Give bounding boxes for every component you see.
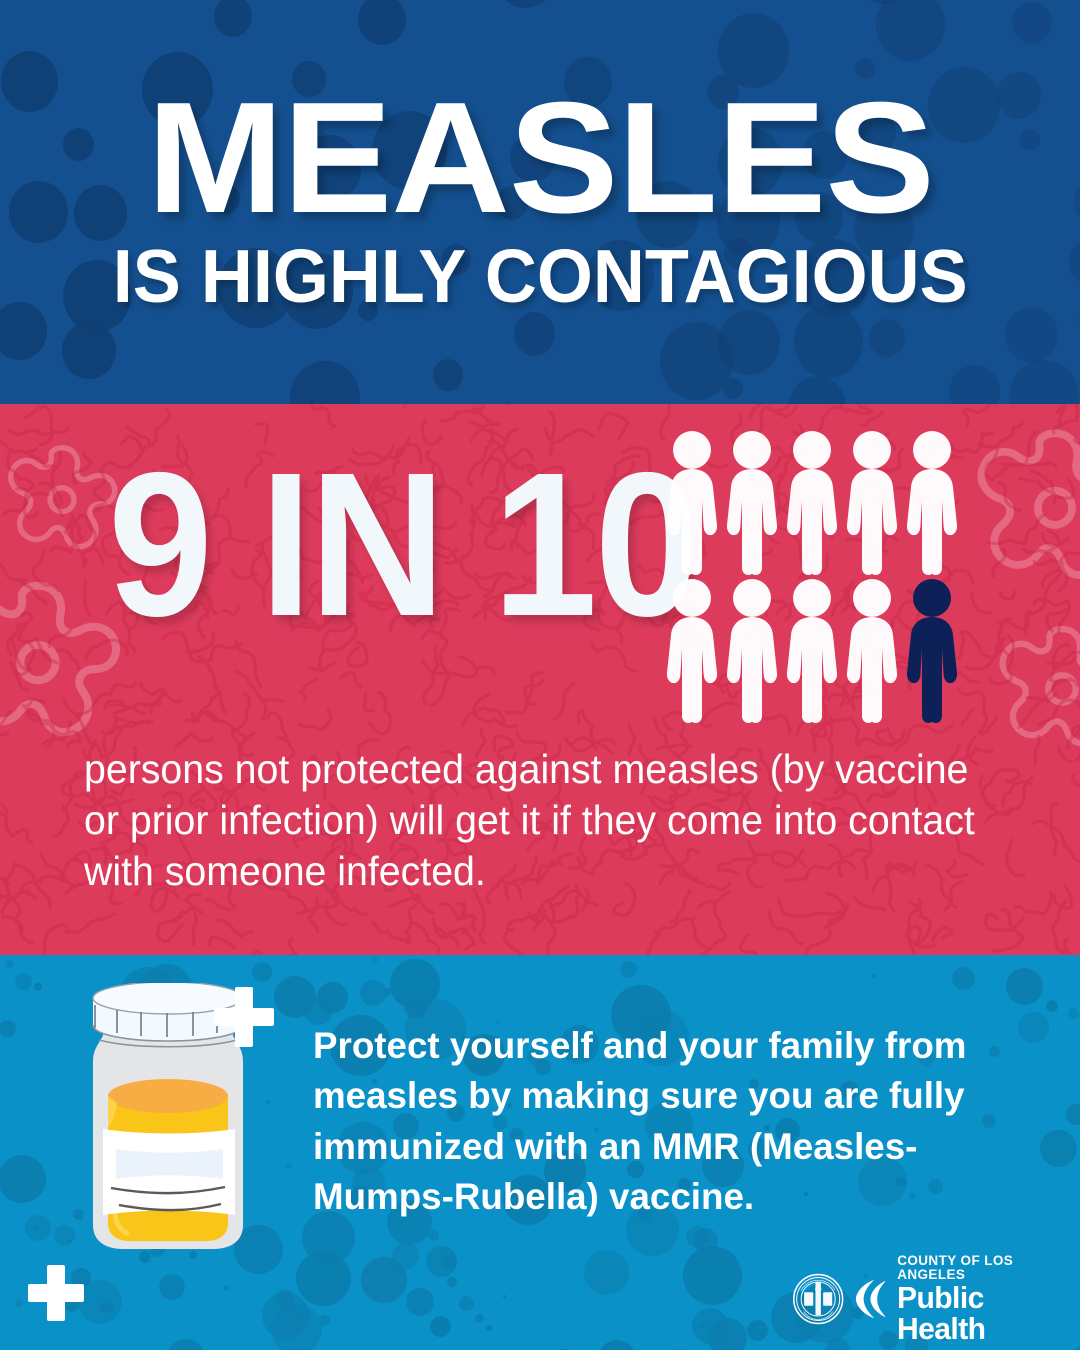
lacounty-public-health-logo: COUNTY OF LOS ANGELES Public Health <box>792 1254 1080 1344</box>
person-icon <box>782 429 842 577</box>
person-icon <box>902 429 962 577</box>
person-icon <box>662 429 722 577</box>
title-block: MEASLES IS HIGHLY CONTAGIOUS <box>0 0 1080 404</box>
big-statistic: 9 IN 10 <box>108 442 697 647</box>
page-subtitle: IS HIGHLY CONTAGIOUS <box>113 239 968 314</box>
person-icon <box>902 577 962 725</box>
logo-county-line: COUNTY OF LOS ANGELES <box>897 1254 1080 1281</box>
action-description: Protect yourself and your family from me… <box>313 1020 989 1221</box>
header-section: MEASLES IS HIGHLY CONTAGIOUS <box>0 0 1080 404</box>
logo-public-health-line: Public Health <box>897 1282 1074 1344</box>
statistic-description: persons not protected against measles (b… <box>84 744 976 897</box>
pictogram-row <box>662 577 962 725</box>
logo-wordmark: COUNTY OF LOS ANGELES Public Health <box>897 1254 1080 1344</box>
person-icon <box>722 429 782 577</box>
statistic-section: 9 IN 10 persons not protected against me… <box>0 404 1080 955</box>
infographic-poster: MEASLES IS HIGHLY CONTAGIOUS 9 IN 10 <box>0 0 1080 1350</box>
person-icon <box>782 577 842 725</box>
person-icon <box>842 429 902 577</box>
medical-cross-icon <box>214 987 274 1047</box>
medical-cross-icon <box>28 1265 84 1321</box>
pictogram-row <box>662 429 962 577</box>
la-county-seal-icon <box>792 1272 844 1326</box>
person-icon <box>842 577 902 725</box>
public-health-faces-icon <box>853 1277 888 1321</box>
pictogram-chart <box>662 429 962 725</box>
page-title: MEASLES <box>146 84 933 233</box>
person-icon <box>722 577 782 725</box>
person-icon <box>662 577 722 725</box>
